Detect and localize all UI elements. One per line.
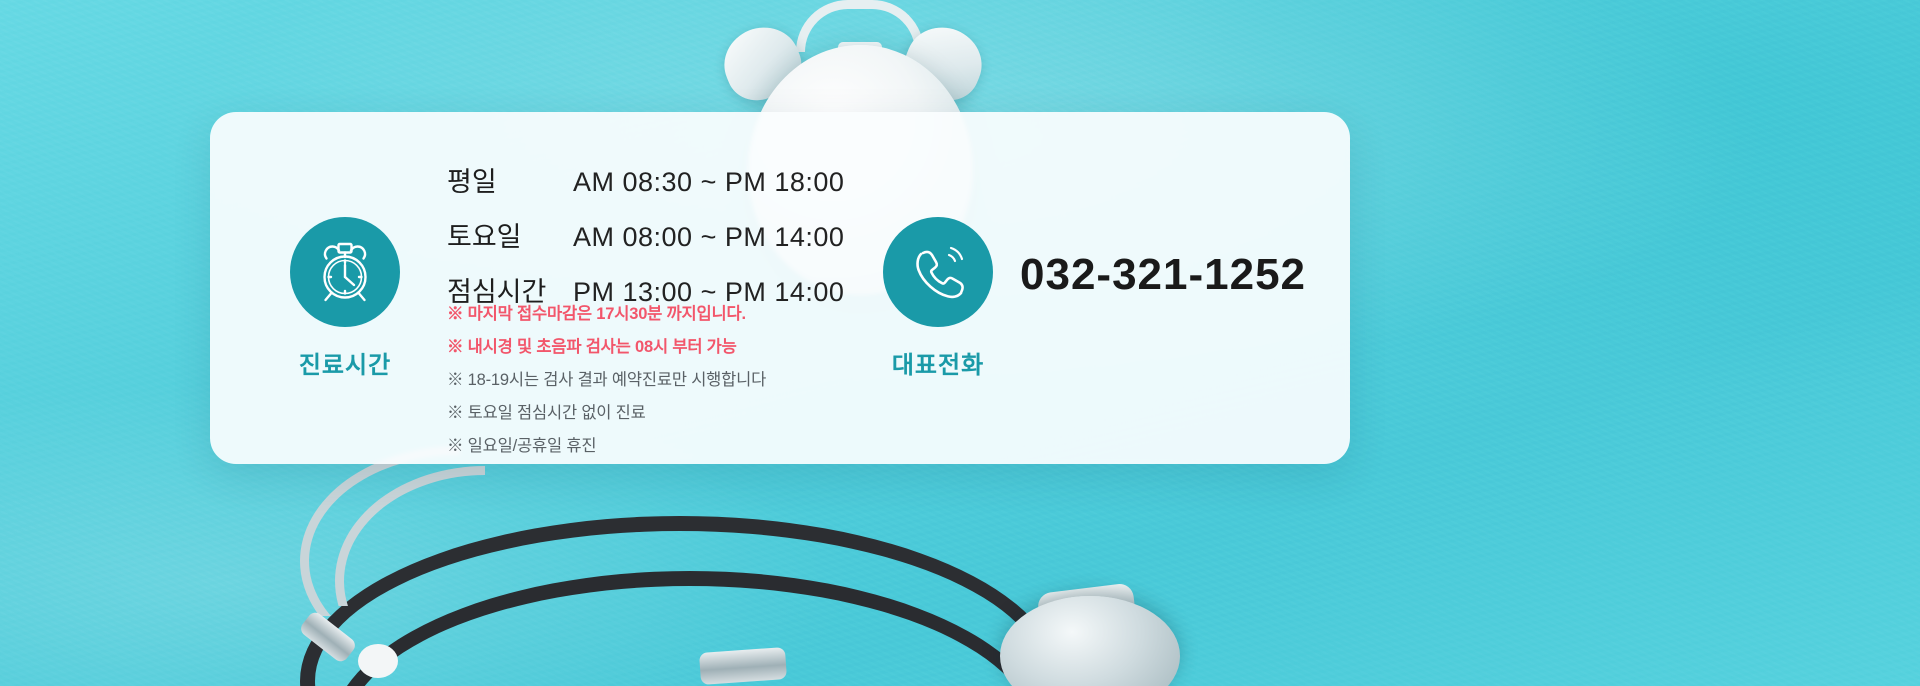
schedule-row: 평일 AM 08:30 ~ PM 18:00	[447, 160, 844, 199]
clinic-info-card: 진료시간 평일 AM 08:30 ~ PM 18:00 토요일 AM 08:00…	[210, 112, 1350, 464]
schedule-day: 평일	[447, 160, 555, 199]
stethoscope-eartip	[358, 644, 398, 678]
schedule-time: AM 08:30 ~ PM 18:00	[573, 167, 844, 198]
notice-item: ※ 18-19시는 검사 결과 예약진료만 시행합니다	[447, 366, 766, 390]
schedule-row: 토요일 AM 08:00 ~ PM 14:00	[447, 215, 844, 254]
phone-ringing-icon[interactable]	[883, 217, 993, 327]
notice-item: ※ 토요일 점심시간 없이 진료	[447, 399, 766, 423]
stethoscope-photo	[0, 426, 1920, 686]
hours-label: 진료시간	[299, 345, 391, 380]
notice-item: ※ 내시경 및 초음파 검사는 08시 부터 가능	[447, 333, 766, 357]
stethoscope-chestpiece	[1000, 596, 1180, 686]
notice-item: ※ 마지막 접수마감은 17시30분 까지입니다.	[447, 300, 766, 324]
schedule-day: 토요일	[447, 215, 555, 254]
phone-label: 대표전화	[892, 345, 984, 380]
notice-list: ※ 마지막 접수마감은 17시30분 까지입니다. ※ 내시경 및 초음파 검사…	[447, 300, 766, 465]
alarm-clock-icon	[290, 217, 400, 327]
stethoscope-connector	[699, 647, 787, 685]
phone-number[interactable]: 032-321-1252	[1020, 250, 1306, 300]
notice-item: ※ 일요일/공휴일 휴진	[447, 432, 766, 456]
hours-section: 진료시간	[290, 217, 400, 380]
phone-section: 대표전화	[883, 217, 993, 380]
schedule-time: AM 08:00 ~ PM 14:00	[573, 222, 844, 253]
